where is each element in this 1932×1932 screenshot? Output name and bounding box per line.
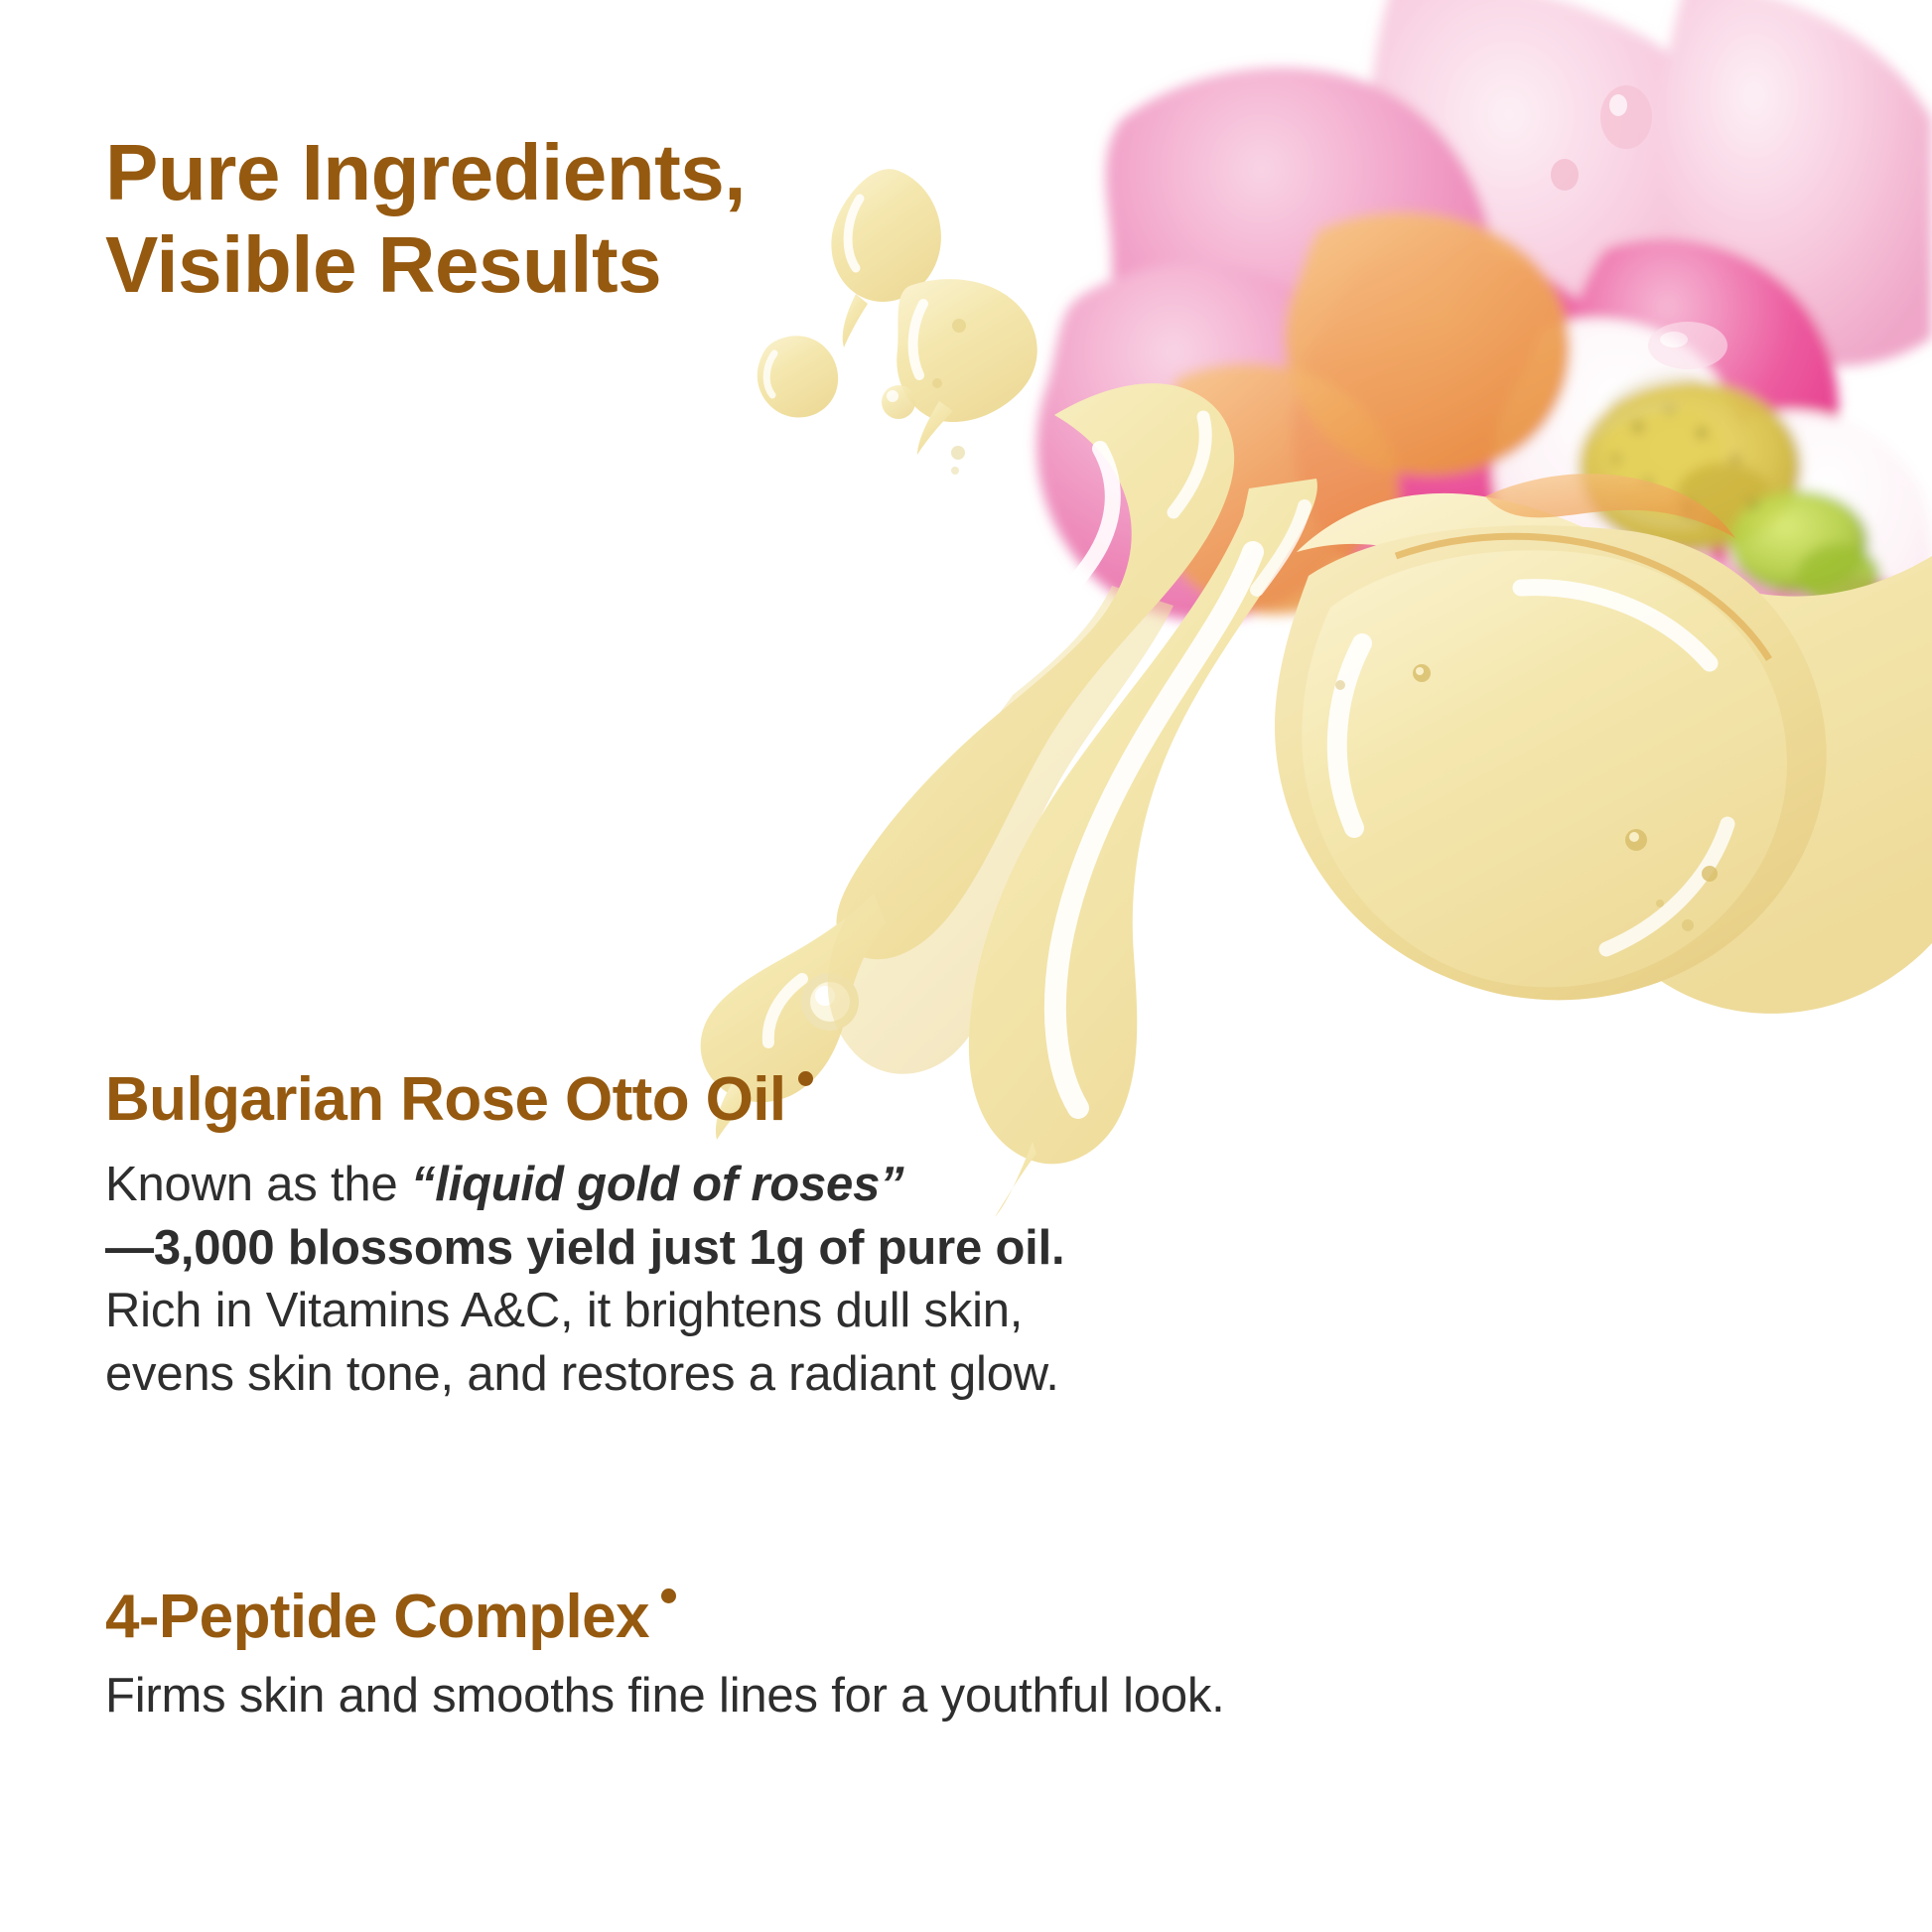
ingredient-infographic: Pure Ingredients, Visible Results Bulgar… [0, 0, 1932, 1932]
ingredient-block-rose-otto-oil: Bulgarian Rose Otto Oil Known as the “li… [105, 1067, 1064, 1407]
text-segment-emphasis: “liquid gold of roses” [411, 1158, 904, 1211]
ingredient-description-rose-otto-oil: Known as the “liquid gold of roses” —3,0… [105, 1154, 1064, 1407]
oil-bubbles [1335, 664, 1718, 931]
text-segment-dash: — [105, 1221, 154, 1275]
ingredient-title-rose-otto-oil: Bulgarian Rose Otto Oil [105, 1067, 1064, 1132]
text-segment: Known as the [105, 1158, 411, 1211]
description-line: Rich in Vitamins A&C, it brightens dull … [105, 1280, 1064, 1343]
oil-droplet-icon [801, 973, 859, 1031]
ingredient-description-peptide-complex: Firms skin and smooths fine lines for a … [105, 1665, 1225, 1728]
ingredient-title-peptide-complex: 4-Peptide Complex [105, 1585, 1225, 1649]
ingredient-block-peptide-complex: 4-Peptide Complex Firms skin and smooths… [105, 1585, 1225, 1728]
description-line: —3,000 blossoms yield just 1g of pure oi… [105, 1217, 1064, 1281]
description-line: Known as the “liquid gold of roses” [105, 1154, 1064, 1217]
rose-blossom-icon [1036, 0, 1932, 871]
text-segment-strong: 3,000 blossoms yield just 1g of pure oil… [154, 1221, 1065, 1275]
ingredient-title-text: Bulgarian Rose Otto Oil [105, 1067, 786, 1132]
pollen-center [1579, 376, 1880, 608]
ingredient-title-text: 4-Peptide Complex [105, 1585, 649, 1649]
page-title: Pure Ingredients, Visible Results [105, 127, 746, 312]
description-line: Firms skin and smooths fine lines for a … [105, 1665, 1225, 1728]
footnote-dot-icon [661, 1588, 676, 1603]
footnote-dot-icon [798, 1071, 813, 1086]
oil-splash-icon [701, 169, 1932, 1217]
description-line: evens skin tone, and restores a radiant … [105, 1343, 1064, 1407]
water-bead-icon [1551, 85, 1727, 369]
